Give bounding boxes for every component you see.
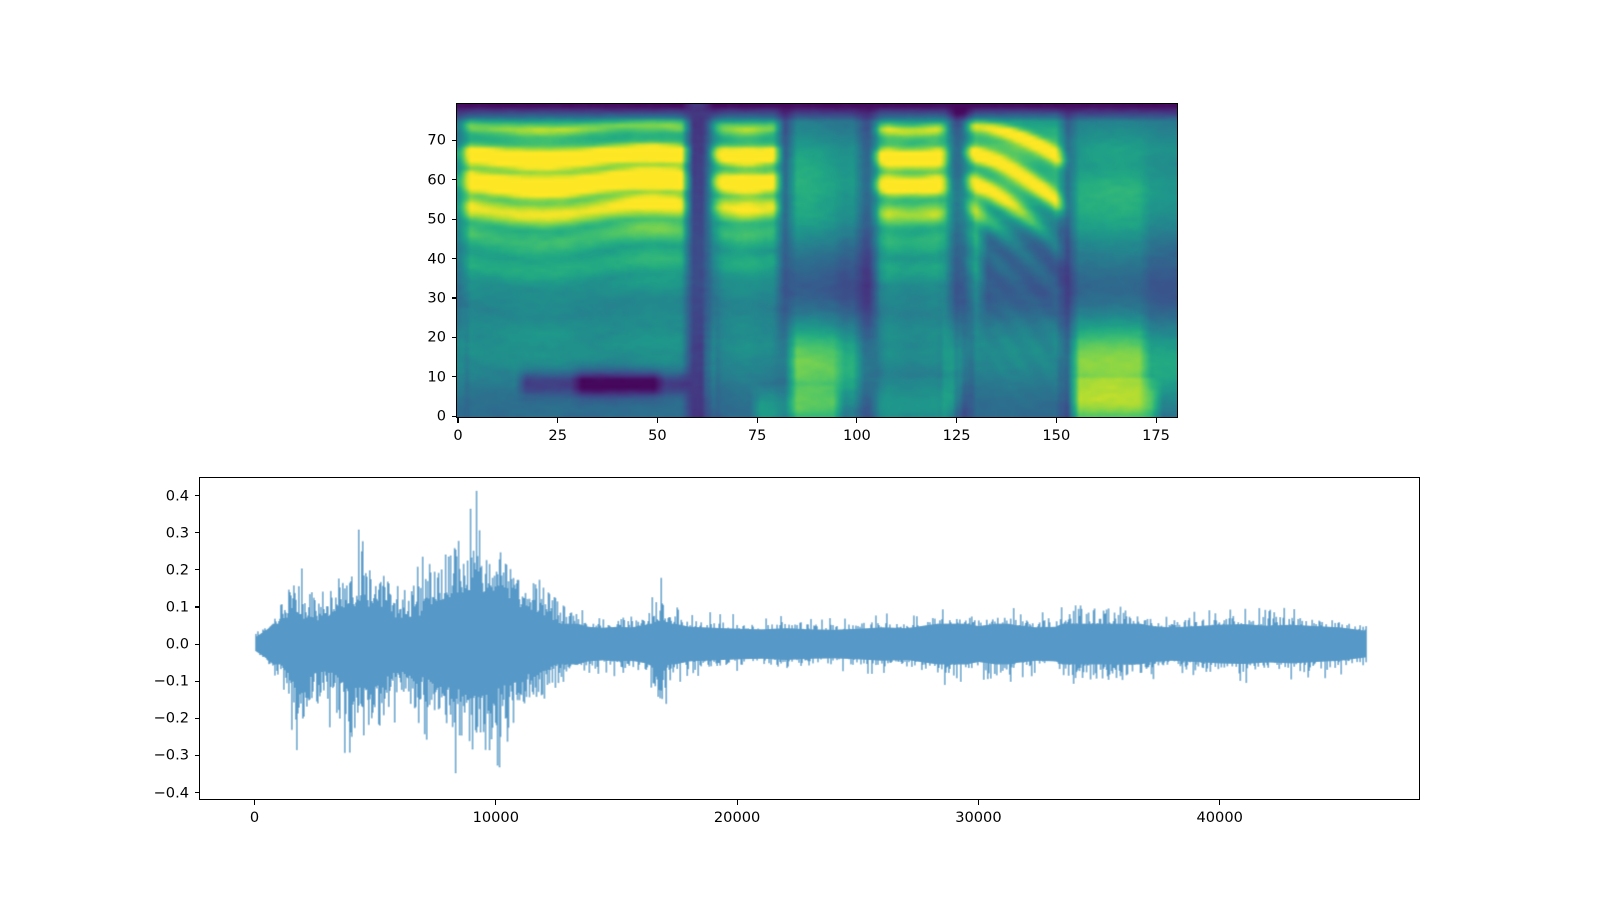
waveform-ytick-label: −0.1 <box>121 673 189 690</box>
waveform-ytick-label: 0.0 <box>121 636 189 653</box>
spectrogram-ytick-mark <box>452 297 457 298</box>
spectrogram-ytick-mark <box>452 337 457 338</box>
spectrogram-ytick-mark <box>452 376 457 377</box>
waveform-xtick-label: 0 <box>250 809 259 826</box>
spectrogram-xtick-label: 75 <box>748 427 767 444</box>
spectrogram-xtick-label: 25 <box>548 427 567 444</box>
spectrogram-ytick-label: 20 <box>386 329 446 346</box>
spectrogram-ytick-label: 60 <box>386 171 446 188</box>
spectrogram-ytick-mark <box>452 140 457 141</box>
waveform-xtick-label: 40000 <box>1196 809 1242 826</box>
spectrogram-ytick-label: 40 <box>386 250 446 267</box>
waveform-xtick-mark <box>495 800 496 805</box>
waveform-ytick-mark <box>195 532 200 533</box>
waveform-ytick-mark <box>195 644 200 645</box>
spectrogram-xtick-mark <box>1056 418 1057 423</box>
waveform-line <box>200 478 1419 799</box>
spectrogram-xtick-mark <box>956 418 957 423</box>
waveform-ytick-mark <box>195 718 200 719</box>
spectrogram-ytick-mark <box>452 258 457 259</box>
matplotlib-figure: 0102030405060700255075100125150175 −0.4−… <box>0 0 1600 900</box>
spectrogram-xtick-label: 175 <box>1142 427 1170 444</box>
spectrogram-xtick-label: 50 <box>648 427 667 444</box>
spectrogram-xtick-label: 0 <box>453 427 462 444</box>
waveform-ytick-label: −0.4 <box>121 784 189 801</box>
waveform-ytick-mark <box>195 569 200 570</box>
waveform-xtick-mark <box>737 800 738 805</box>
spectrogram-xtick-mark <box>856 418 857 423</box>
waveform-xtick-label: 20000 <box>714 809 760 826</box>
waveform-xtick-mark <box>978 800 979 805</box>
waveform-ytick-label: −0.3 <box>121 747 189 764</box>
spectrogram-ytick-label: 50 <box>386 211 446 228</box>
spectrogram-xtick-label: 100 <box>843 427 871 444</box>
spectrogram-ytick-mark <box>452 416 457 417</box>
spectrogram-ytick-label: 70 <box>386 132 446 149</box>
waveform-ytick-mark <box>195 755 200 756</box>
waveform-ytick-mark <box>195 495 200 496</box>
spectrogram-xtick-label: 125 <box>943 427 971 444</box>
waveform-axes <box>199 477 1420 800</box>
waveform-ytick-label: −0.2 <box>121 710 189 727</box>
spectrogram-ytick-mark <box>452 219 457 220</box>
spectrogram-ytick-label: 10 <box>386 368 446 385</box>
waveform-xtick-label: 10000 <box>473 809 519 826</box>
spectrogram-xtick-mark <box>1156 418 1157 423</box>
waveform-ytick-mark <box>195 792 200 793</box>
waveform-xtick-label: 30000 <box>955 809 1001 826</box>
spectrogram-xtick-mark <box>557 418 558 423</box>
spectrogram-axes <box>456 103 1178 418</box>
spectrogram-ytick-mark <box>452 179 457 180</box>
waveform-ytick-label: 0.3 <box>121 524 189 541</box>
spectrogram-xtick-mark <box>457 418 458 423</box>
waveform-ytick-label: 0.4 <box>121 487 189 504</box>
spectrogram-xtick-label: 150 <box>1042 427 1070 444</box>
spectrogram-ytick-label: 0 <box>386 408 446 425</box>
waveform-ytick-mark <box>195 681 200 682</box>
waveform-ytick-mark <box>195 606 200 607</box>
spectrogram-ytick-label: 30 <box>386 289 446 306</box>
waveform-ytick-label: 0.2 <box>121 561 189 578</box>
spectrogram-xtick-mark <box>757 418 758 423</box>
waveform-xtick-mark <box>254 800 255 805</box>
waveform-xtick-mark <box>1219 800 1220 805</box>
waveform-ytick-label: 0.1 <box>121 598 189 615</box>
spectrogram-image <box>457 104 1177 417</box>
spectrogram-xtick-mark <box>657 418 658 423</box>
